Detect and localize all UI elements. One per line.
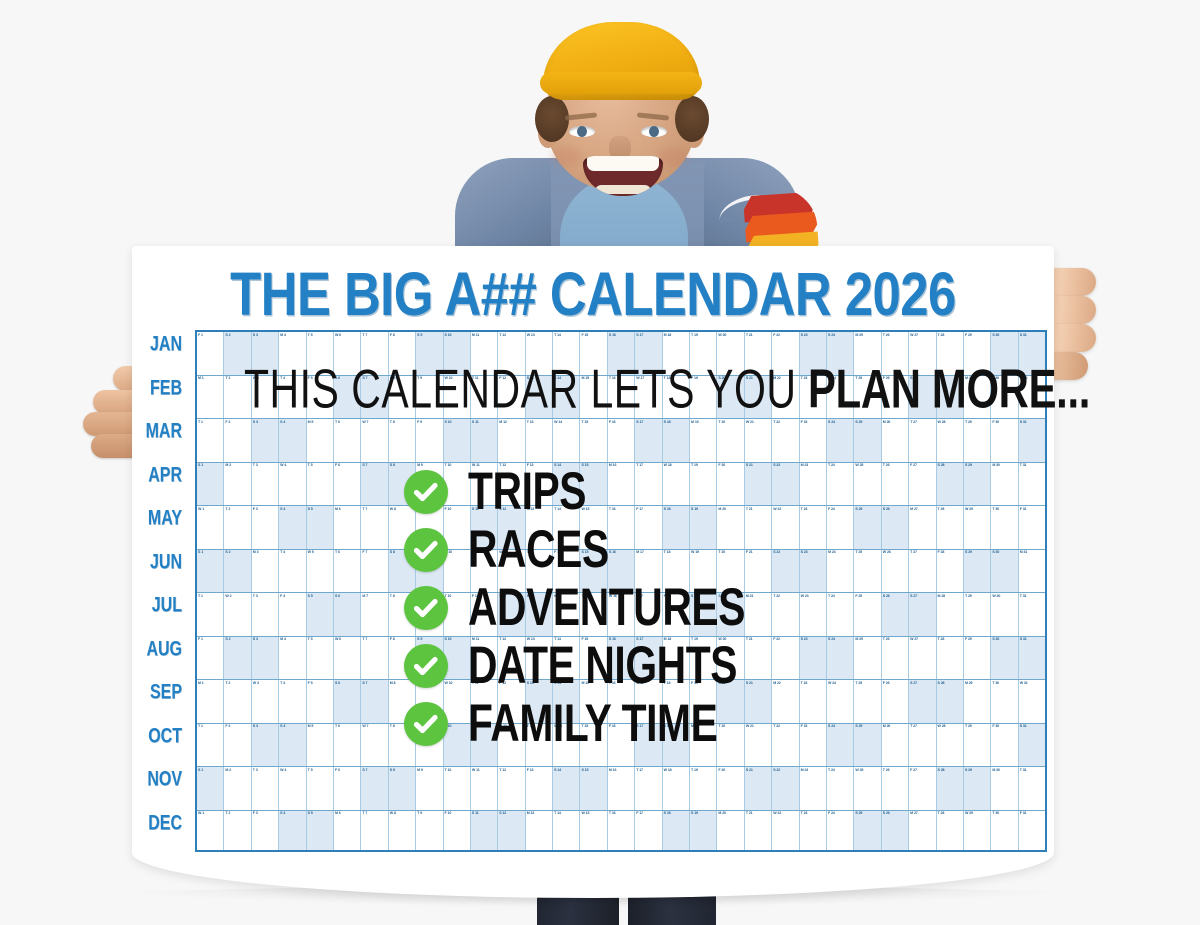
calendar-day-cell[interactable]: S3 [252,724,279,767]
calendar-day-cell[interactable]: T14 [553,811,580,853]
day-of-week-letter: T [910,421,912,425]
calendar-day-cell[interactable]: S6 [334,593,361,636]
day-of-week-letter: F [198,638,200,642]
calendar-day-cell[interactable]: T9 [416,811,443,853]
calendar-day-cell[interactable]: T8 [389,419,416,462]
calendar-day-cell[interactable]: M1 [197,680,224,723]
day-of-week-letter: F [527,769,529,773]
day-number: 10 [448,812,452,816]
calendar-day-cell[interactable]: W3 [252,680,279,723]
calendar-day-cell[interactable]: S18 [663,419,690,462]
calendar-day-cell[interactable]: W22 [772,811,799,853]
day-of-week-letter: T [581,421,583,425]
day-of-week-letter: T [198,595,200,599]
calendar-day-cell[interactable]: F20 [717,767,744,810]
calendar-day-cell[interactable]: T20 [717,419,744,462]
day-of-week-letter: S [225,334,227,338]
calendar-day-cell[interactable]: T7 [361,811,388,853]
day-cell-label: S7 [362,464,388,468]
calendar-day-cell[interactable]: M2 [224,463,251,506]
calendar-day-cell[interactable]: T24 [827,767,854,810]
calendar-day-cell[interactable]: M30 [991,767,1018,810]
day-of-week-letter: S [773,769,775,773]
calendar-day-cell[interactable]: T31 [1019,767,1045,810]
calendar-day-cell[interactable]: W21 [745,419,772,462]
day-of-week-letter: T [362,638,364,642]
day-of-week-letter: S [855,421,857,425]
day-cell-label: W20 [718,334,744,338]
day-number: 28 [941,334,945,338]
calendar-day-cell[interactable]: S8 [389,767,416,810]
day-cell-label: S23 [801,334,827,338]
day-cell-label: T4 [280,682,306,686]
calendar-day-cell[interactable]: M2 [224,767,251,810]
day-number: 15 [586,812,590,816]
calendar-day-cell[interactable]: S2 [224,637,251,680]
calendar-day-cell[interactable]: M23 [800,767,827,810]
calendar-day-cell[interactable]: M19 [690,419,717,462]
calendar-day-cell[interactable]: F2 [224,419,251,462]
calendar-day-cell[interactable]: T30 [991,811,1018,853]
day-cell-label: T1 [198,725,224,729]
calendar-day-cell[interactable]: W29 [964,811,991,853]
day-number: 8 [394,682,396,686]
headline-light-text: THIS CALENDAR LETS YOU [244,362,797,417]
calendar-day-cell[interactable]: M4 [279,637,306,680]
calendar-day-cell[interactable]: F23 [800,419,827,462]
day-number: 5 [311,812,313,816]
calendar-day-cell[interactable]: F13 [526,767,553,810]
calendar-day-cell[interactable]: T10 [444,767,471,810]
calendar-day-cell[interactable]: M16 [608,767,635,810]
day-cell-label: W21 [746,421,772,425]
day-number: 1 [202,508,204,512]
calendar-day-cell[interactable]: F17 [635,811,662,853]
day-number: 2 [228,682,230,686]
day-cell-label: T6 [335,421,361,425]
day-cell-label: T31 [1020,769,1045,773]
calendar-day-cell[interactable]: F6 [334,767,361,810]
calendar-day-cell[interactable]: M27 [909,811,936,853]
day-of-week-letter: F [636,812,638,816]
day-of-week-letter: S [636,334,638,338]
day-number: 8 [393,464,395,468]
calendar-day-cell[interactable]: S4 [279,724,306,767]
day-cell-label: F31 [1020,812,1045,816]
calendar-day-cell[interactable]: T22 [772,419,799,462]
day-number: 24 [831,334,835,338]
day-cell-label: W28 [938,421,964,425]
day-number: 31 [1024,682,1028,686]
calendar-day-cell[interactable]: T23 [800,811,827,853]
calendar-day-cell[interactable]: S31 [1019,724,1045,767]
calendar-day-cell[interactable]: S3 [252,419,279,462]
day-of-week-letter: T [225,812,227,816]
calendar-day-cell[interactable]: T31 [1019,463,1045,506]
day-number: 25 [859,334,863,338]
calendar-day-cell[interactable]: T6 [334,550,361,593]
calendar-day-cell[interactable]: W6 [334,637,361,680]
day-number: 12 [503,421,507,425]
calendar-day-cell[interactable]: T5 [307,463,334,506]
day-number: 1 [201,769,203,773]
day-of-week-letter: F [335,769,337,773]
day-number: 7 [366,595,368,599]
day-of-week-letter: T [280,682,282,686]
calendar-day-cell[interactable]: T6 [334,724,361,767]
day-cell-label: T5 [308,638,334,642]
day-number: 18 [667,334,671,338]
day-of-week-letter: S [390,464,392,468]
day-of-week-letter: S [938,769,940,773]
day-cell-label: F1 [198,334,224,338]
calendar-day-cell[interactable]: M6 [334,811,361,853]
calendar-day-cell[interactable]: M26 [882,419,909,462]
calendar-day-cell[interactable]: S11 [471,811,498,853]
calendar-day-cell[interactable]: W1 [197,811,224,853]
day-cell-label: W6 [335,334,361,338]
calendar-day-cell[interactable]: T5 [307,767,334,810]
calendar-day-cell[interactable]: S1 [197,463,224,506]
calendar-day-cell[interactable]: S29 [964,767,991,810]
calendar-day-cell[interactable]: S22 [772,767,799,810]
day-cell-label: T6 [335,725,361,729]
day-of-week-letter: T [308,334,310,338]
day-of-week-letter: M [910,812,913,816]
calendar-day-cell[interactable]: W2 [224,593,251,636]
day-number: 25 [859,812,863,816]
calendar-day-cell[interactable]: S15 [580,767,607,810]
eyebrow-left [565,112,597,120]
day-number: 20 [721,769,725,773]
calendar-day-cell[interactable]: M13 [526,811,553,853]
day-number: 3 [257,551,259,555]
calendar-day-cell[interactable]: F31 [1019,811,1045,853]
day-cell-label: T7 [362,334,388,338]
calendar-day-cell[interactable]: F7 [361,550,388,593]
day-number: 13 [530,769,534,773]
calendar-day-cell[interactable]: W4 [279,767,306,810]
calendar-day-cell[interactable]: M31 [1019,550,1045,593]
day-cell-label: T14 [554,334,580,338]
day-number: 3 [256,769,258,773]
calendar-day-cell[interactable]: W14 [553,419,580,462]
day-of-week-letter: F [1020,812,1022,816]
calendar-day-cell[interactable]: T27 [909,419,936,462]
day-of-week-letter: M [472,334,475,338]
day-of-week-letter: S [253,638,255,642]
day-number: 31 [1023,464,1027,468]
calendar-day-cell[interactable]: M9 [416,767,443,810]
day-of-week-letter: W [335,334,338,338]
calendar-day-cell[interactable]: M12 [498,419,525,462]
calendar-day-cell[interactable]: F3 [252,811,279,853]
calendar-day-cell[interactable]: T16 [608,811,635,853]
calendar-day-cell[interactable]: W4 [279,463,306,506]
day-of-week-letter: S [335,682,337,686]
calendar-day-cell[interactable]: S10 [444,419,471,462]
day-number: 27 [913,421,917,425]
calendar-day-cell[interactable]: W8 [389,811,416,853]
day-cell-label: F8 [390,334,416,338]
day-cell-label: T27 [910,421,936,425]
calendar-day-cell[interactable]: M20 [717,811,744,853]
day-number: 3 [256,464,258,468]
calendar-day-cell[interactable]: F1 [197,637,224,680]
calendar-day-cell[interactable]: T13 [526,419,553,462]
calendar-day-cell[interactable]: W7 [361,724,388,767]
calendar-day-cell[interactable]: S5 [307,811,334,853]
day-number: 22 [777,812,781,816]
day-number: 6 [339,508,341,512]
calendar-day-cell[interactable]: F6 [334,463,361,506]
day-number: 19 [694,769,698,773]
day-cell-label: T7 [362,638,388,642]
day-number: 10 [448,334,452,338]
calendar-day-cell[interactable]: W25 [854,767,881,810]
day-cell-label: F4 [280,595,306,599]
day-cell-label: S24 [828,421,854,425]
day-cell-label: S15 [581,769,607,773]
day-number: 31 [1023,595,1027,599]
calendar-day-cell[interactable]: T1 [197,419,224,462]
calendar-day-cell[interactable]: S3 [252,637,279,680]
calendar-day-cell[interactable]: S14 [553,767,580,810]
calendar-day-cell[interactable]: T2 [224,680,251,723]
calendar-day-cell[interactable]: S19 [690,811,717,853]
calendar-day-cell[interactable]: W18 [663,767,690,810]
day-number: 7 [366,464,368,468]
calendar-day-cell[interactable]: T2 [224,811,251,853]
calendar-day-cell[interactable]: S25 [854,811,881,853]
calendar-day-cell[interactable]: F24 [827,811,854,853]
calendar-day-cell[interactable]: W1 [197,506,224,549]
day-number: 1 [201,421,203,425]
calendar-day-cell[interactable]: S12 [498,811,525,853]
day-number: 30 [995,421,999,425]
day-of-week-letter: F [965,334,967,338]
calendar-day-cell[interactable]: S7 [361,463,388,506]
calendar-day-cell[interactable]: T12 [498,767,525,810]
day-of-week-letter: F [225,421,227,425]
calendar-day-cell[interactable]: F1 [197,332,224,375]
calendar-day-cell[interactable]: M3 [252,550,279,593]
day-cell-label: S4 [280,725,306,729]
calendar-day-cell[interactable]: S2 [224,550,251,593]
calendar-day-cell[interactable]: T17 [635,767,662,810]
calendar-day-cell[interactable]: W28 [937,419,964,462]
day-number: 22 [776,769,780,773]
calendar-day-cell[interactable]: M5 [307,724,334,767]
calendar-day-cell[interactable]: T4 [279,550,306,593]
calendar-day-cell[interactable]: S31 [1019,637,1045,680]
checklist-item: ADVENTURES [404,580,1004,636]
calendar-day-cell[interactable]: W11 [471,767,498,810]
day-of-week-letter: F [390,638,392,642]
day-number: 13 [530,421,534,425]
month-label-oct: OCT [126,724,182,748]
day-number: 27 [913,769,917,773]
calendar-day-cell[interactable]: W15 [580,811,607,853]
day-cell-label: T15 [581,421,607,425]
day-of-week-letter: W [390,812,393,816]
checklist-item-label: TRIPS [468,466,586,519]
calendar-day-cell[interactable]: S4 [279,811,306,853]
calendar-day-cell[interactable]: S26 [882,811,909,853]
day-of-week-letter: T [390,725,392,729]
calendar-day-cell[interactable]: S17 [635,419,662,462]
calendar-day-cell[interactable]: F16 [608,419,635,462]
day-of-week-letter: S [664,421,666,425]
day-cell-label: S5 [308,508,334,512]
calendar-day-cell[interactable]: S21 [745,767,772,810]
calendar-day-cell[interactable]: S5 [307,593,334,636]
calendar-day-cell[interactable]: S18 [663,811,690,853]
day-cell-label: W4 [280,769,306,773]
calendar-day-cell[interactable]: S24 [827,419,854,462]
day-cell-label: T31 [1020,464,1045,468]
calendar-day-cell[interactable]: S7 [361,767,388,810]
day-of-week-letter: S [308,508,310,512]
calendar-day-cell[interactable]: S1 [197,767,224,810]
calendar-day-cell[interactable]: F4 [279,593,306,636]
day-of-week-letter: M [362,595,365,599]
day-number: 2 [228,812,230,816]
day-cell-label: M11 [472,334,498,338]
calendar-day-cell[interactable]: T4 [279,680,306,723]
calendar-day-cell[interactable]: W7 [361,419,388,462]
calendar-day-cell[interactable]: W31 [1019,680,1045,723]
day-cell-label: T3 [253,769,279,773]
day-cell-label: M1 [198,377,224,381]
calendar-day-cell[interactable]: S11 [471,419,498,462]
calendar-day-cell[interactable]: T1 [197,724,224,767]
day-number: 3 [257,682,259,686]
day-of-week-letter: W [335,638,338,642]
day-cell-label: T31 [1020,595,1045,599]
day-cell-label: F3 [253,812,279,816]
day-cell-label: F2 [225,421,251,425]
day-of-week-letter: T [718,421,720,425]
day-of-week-letter: S [198,464,200,468]
day-of-week-letter: S [225,638,227,642]
calendar-day-cell[interactable]: T6 [334,419,361,462]
day-of-week-letter: T [308,638,310,642]
calendar-day-cell[interactable]: T26 [882,767,909,810]
calendar-day-cell[interactable]: S7 [361,680,388,723]
day-cell-label: T1 [198,421,224,425]
calendar-day-cell[interactable]: T21 [745,811,772,853]
calendar-day-cell[interactable]: S1 [197,550,224,593]
day-number: 8 [394,812,396,816]
day-cell-label: T1 [198,595,224,599]
day-number: 22 [776,334,780,338]
calendar-day-cell[interactable]: F31 [1019,506,1045,549]
day-cell-label: W5 [308,551,334,555]
day-cell-label: S31 [1020,421,1045,425]
day-number: 5 [311,638,313,642]
day-of-week-letter: S [198,551,200,555]
day-cell-label: T5 [308,769,334,773]
calendar-day-cell[interactable]: F2 [224,724,251,767]
day-cell-label: F20 [718,769,744,773]
calendar-day-cell[interactable]: T3 [252,463,279,506]
day-of-week-letter: T [335,551,337,555]
calendar-day-cell[interactable]: T5 [307,637,334,680]
calendar-day-cell[interactable]: F30 [991,419,1018,462]
calendar-day-cell[interactable]: S28 [937,767,964,810]
calendar-day-cell[interactable]: F3 [252,506,279,549]
calendar-day-cell[interactable]: S25 [854,419,881,462]
calendar-day-cell[interactable]: T2 [224,506,251,549]
day-number: 28 [942,421,946,425]
calendar-day-cell[interactable]: T3 [252,767,279,810]
calendar-day-cell[interactable]: F9 [416,419,443,462]
calendar-day-cell[interactable]: S4 [279,506,306,549]
day-of-week-letter: M [280,638,283,642]
calendar-day-cell[interactable]: S4 [279,419,306,462]
calendar-day-cell[interactable]: F27 [909,767,936,810]
calendar-day-cell[interactable]: S6 [334,680,361,723]
day-number: 3 [256,508,258,512]
day-number: 8 [393,769,395,773]
day-of-week-letter: S [445,334,447,338]
calendar-day-cell[interactable]: M7 [361,593,388,636]
benefits-checklist: TRIPSRACESADVENTURESDATE NIGHTSFAMILY TI… [404,464,1004,754]
day-of-week-letter: M [335,812,338,816]
calendar-day-cell[interactable]: T1 [197,593,224,636]
calendar-day-cell[interactable]: F10 [444,811,471,853]
day-number: 6 [338,551,340,555]
day-of-week-letter: F [718,769,720,773]
day-number: 31 [1023,769,1027,773]
day-of-week-letter: T [609,812,611,816]
day-cell-label: W2 [225,595,251,599]
day-of-week-letter: F [992,421,994,425]
calendar-day-cell[interactable]: T7 [361,506,388,549]
calendar-day-cell[interactable]: W5 [307,550,334,593]
calendar-day-cell[interactable]: S31 [1019,419,1045,462]
hair-left [535,96,569,142]
day-of-week-letter: M [718,812,721,816]
calendar-day-cell[interactable]: T7 [361,637,388,680]
calendar-day-cell[interactable]: T28 [937,811,964,853]
day-of-week-letter: T [746,334,748,338]
calendar-day-cell[interactable]: S5 [307,506,334,549]
calendar-day-cell[interactable]: T19 [690,767,717,810]
day-number: 4 [283,508,285,512]
day-number: 13 [530,812,534,816]
day-cell-label: M30 [992,769,1018,773]
day-cell-label: S6 [335,682,361,686]
calendar-day-cell[interactable]: T3 [252,593,279,636]
calendar-day-cell[interactable]: T15 [580,419,607,462]
day-number: 6 [338,595,340,599]
day-number: 1 [201,638,203,642]
calendar-day-cell[interactable]: M6 [334,506,361,549]
day-cell-label: F15 [581,334,607,338]
day-number: 5 [312,551,314,555]
calendar-day-cell[interactable]: M5 [307,419,334,462]
calendar-day-cell[interactable]: M1 [197,376,224,419]
day-number: 31 [1023,421,1027,425]
calendar-day-cell[interactable]: T31 [1019,593,1045,636]
calendar-day-cell[interactable]: F5 [307,680,334,723]
day-of-week-letter: W [527,334,530,338]
calendar-day-cell[interactable]: T29 [964,419,991,462]
day-of-week-letter: S [1020,638,1022,642]
day-of-week-letter: W [746,421,749,425]
